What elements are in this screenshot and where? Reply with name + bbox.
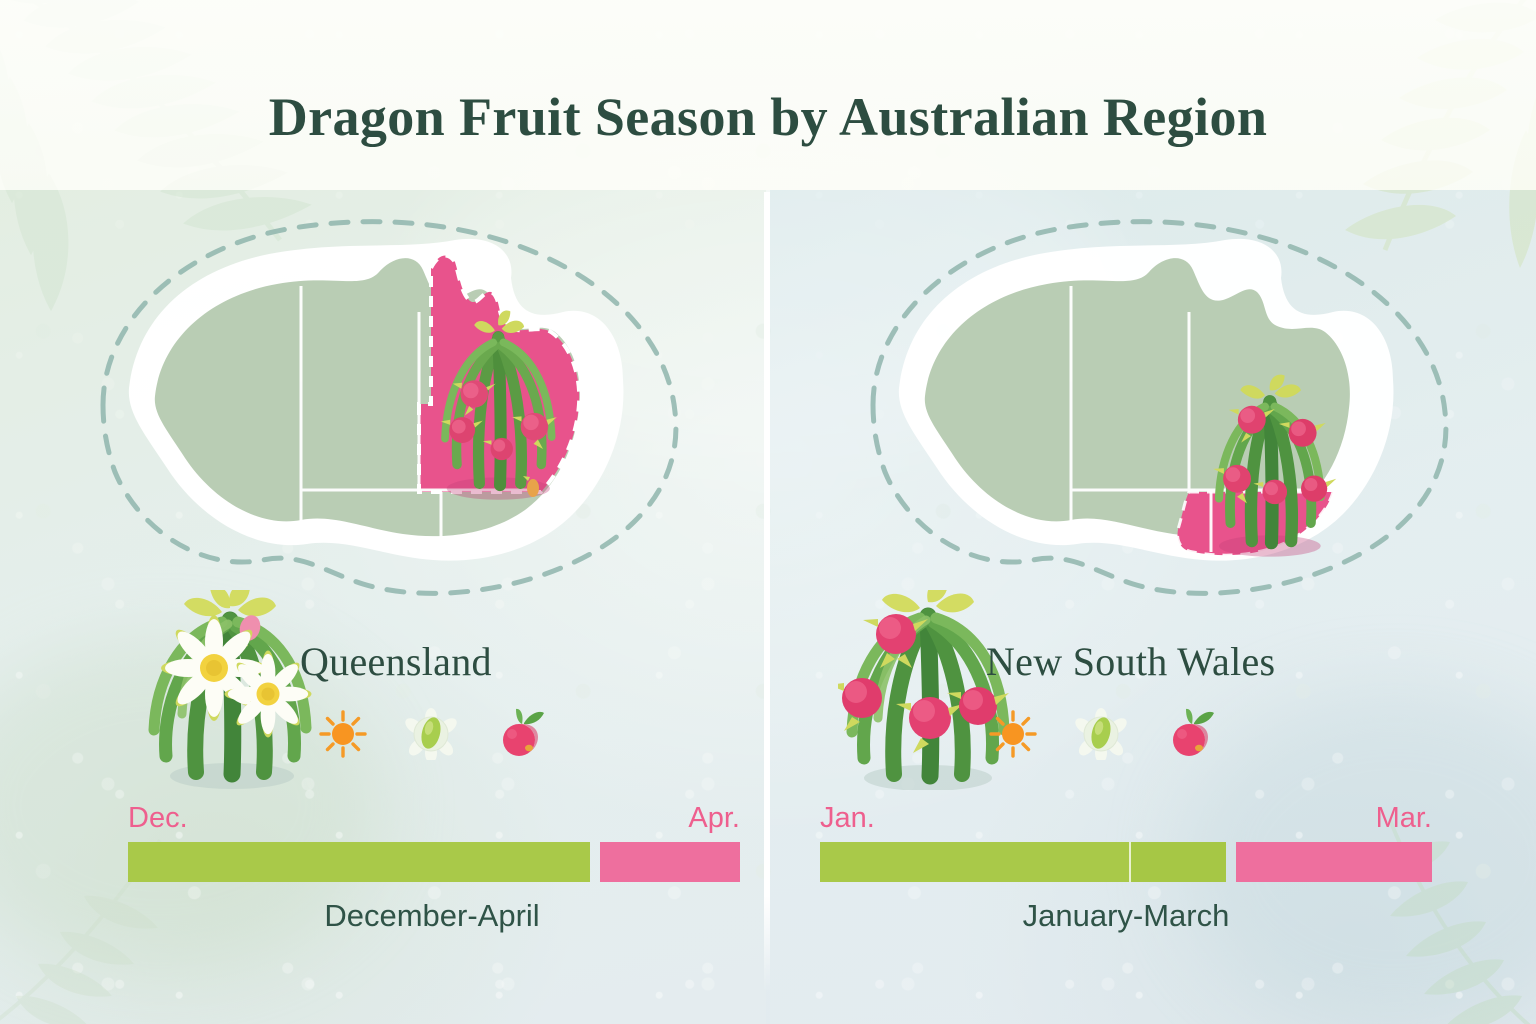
region-panel-queensland: Queensland xyxy=(0,190,766,1024)
flower-icon[interactable] xyxy=(1074,708,1128,760)
infographic-stage: Dragon Fruit Season by Australian Region xyxy=(0,0,1536,1024)
timeline-caption: January-March xyxy=(820,898,1432,934)
map-svg-nsw xyxy=(833,200,1473,620)
timeline-bar[interactable] xyxy=(820,842,1432,882)
map-australia-queensland[interactable] xyxy=(0,200,766,620)
stage-icons-new-south-wales xyxy=(988,708,1218,760)
region-label-new-south-wales: New South Wales xyxy=(986,638,1486,685)
timeline-endpoints: Jan. Mar. xyxy=(820,802,1432,842)
stage-icons-queensland xyxy=(318,708,548,760)
timeline-queensland: Dec. Apr. December-April xyxy=(128,802,740,934)
timeline-segment-growing-2 xyxy=(1129,842,1226,882)
timeline-segment-gap xyxy=(1226,842,1236,882)
page-title: Dragon Fruit Season by Australian Region xyxy=(0,86,1536,148)
timeline-endpoints: Dec. Apr. xyxy=(128,802,740,842)
flower-icon[interactable] xyxy=(404,708,458,760)
dragon-fruit-plant-fruiting xyxy=(838,590,1018,790)
fruit-icon[interactable] xyxy=(1164,708,1218,760)
timeline-end-label: Mar. xyxy=(1376,802,1432,835)
timeline-bar[interactable] xyxy=(128,842,740,882)
timeline-segment-gap xyxy=(590,842,600,882)
timeline-new-south-wales: Jan. Mar. January-March xyxy=(820,802,1432,934)
map-australia-new-south-wales[interactable] xyxy=(770,200,1536,620)
dragon-fruit-plant-flowering xyxy=(140,590,320,790)
region-row-new-south-wales: New South Wales xyxy=(770,590,1536,790)
region-label-queensland: Queensland xyxy=(300,638,740,685)
timeline-start-label: Dec. xyxy=(128,802,188,835)
timeline-segment-harvest xyxy=(600,842,740,882)
map-svg-queensland xyxy=(63,200,703,620)
fruit-icon[interactable] xyxy=(494,708,548,760)
region-row-queensland: Queensland xyxy=(0,590,766,790)
dragon-fruit-flower xyxy=(225,651,312,738)
panel-divider xyxy=(764,192,770,992)
timeline-segment-harvest xyxy=(1236,842,1432,882)
timeline-end-label: Apr. xyxy=(688,802,740,835)
timeline-segment-growing-1 xyxy=(820,842,1129,882)
timeline-segment-growing xyxy=(128,842,590,882)
sun-icon[interactable] xyxy=(988,709,1038,759)
timeline-start-label: Jan. xyxy=(820,802,875,835)
region-panel-new-south-wales: New South Wales xyxy=(770,190,1536,1024)
sun-icon[interactable] xyxy=(318,709,368,759)
timeline-caption: December-April xyxy=(128,898,740,934)
